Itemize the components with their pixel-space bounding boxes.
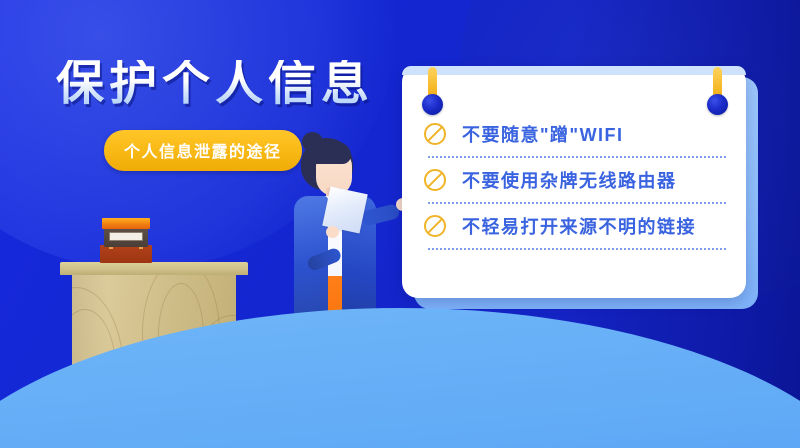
list-item-label: 不要随意"蹭"WIFI bbox=[462, 121, 624, 147]
hand-left bbox=[326, 226, 339, 238]
prohibition-icon bbox=[424, 123, 446, 145]
poster-canvas: 保护个人信息 个人信息泄露的途径 bbox=[0, 0, 800, 448]
divider bbox=[428, 156, 726, 158]
prohibition-icon bbox=[424, 215, 446, 237]
prohibition-icon bbox=[424, 169, 446, 191]
stacked-books bbox=[98, 215, 154, 263]
desk-top-surface bbox=[60, 262, 248, 275]
list-item-label: 不要使用杂牌无线路由器 bbox=[462, 167, 677, 193]
book-bottom bbox=[100, 245, 152, 263]
whiteboard: 不要随意"蹭"WIFI 不要使用杂牌无线路由器 不轻易打开来源不明的链接 bbox=[402, 66, 746, 298]
title-block: 保护个人信息 bbox=[56, 60, 374, 108]
pushpin-head bbox=[422, 94, 443, 115]
whiteboard-top-strip bbox=[402, 66, 746, 75]
list-item[interactable]: 不轻易打开来源不明的链接 bbox=[424, 204, 728, 248]
tips-list: 不要随意"蹭"WIFI 不要使用杂牌无线路由器 不轻易打开来源不明的链接 bbox=[424, 112, 728, 250]
subtitle-badge: 个人信息泄露的途径 bbox=[104, 130, 302, 171]
pushpin-icon-left bbox=[428, 67, 437, 103]
hair-fringe bbox=[309, 142, 351, 164]
divider bbox=[428, 202, 726, 204]
pushpin-head bbox=[707, 94, 728, 115]
book-top bbox=[102, 218, 150, 229]
book-label bbox=[109, 232, 143, 241]
list-item[interactable]: 不要使用杂牌无线路由器 bbox=[424, 158, 728, 202]
divider bbox=[428, 248, 726, 250]
list-item-label: 不轻易打开来源不明的链接 bbox=[462, 213, 696, 239]
list-item[interactable]: 不要随意"蹭"WIFI bbox=[424, 112, 728, 156]
book-middle bbox=[104, 228, 148, 247]
page-title: 保护个人信息 bbox=[56, 60, 374, 108]
pushpin-icon-right bbox=[713, 67, 722, 103]
